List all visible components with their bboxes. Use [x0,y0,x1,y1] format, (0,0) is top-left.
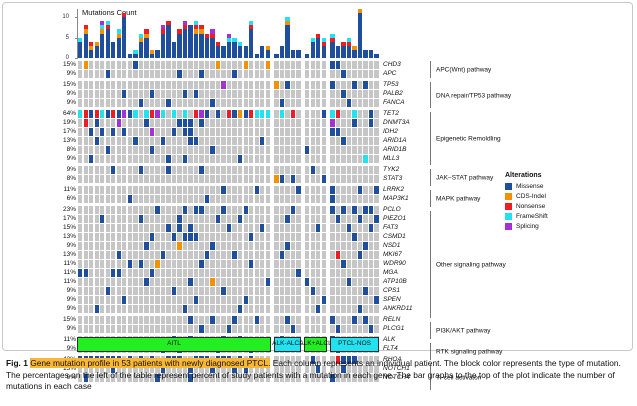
oncoprint-cell-empty [122,287,126,295]
oncoprint-cell-empty [296,242,300,250]
oncoprint-cell-empty [316,206,320,214]
oncoprint-cell-empty [374,166,378,174]
oncoprint-cell-empty [316,155,320,163]
oncoprint-cell-empty [280,215,284,223]
oncoprint-cell-empty [166,110,170,118]
oncoprint-cell-empty [358,325,362,333]
oncoprint-cell-empty [285,278,289,286]
oncoprint-cell-empty [78,195,82,203]
oncoprint-cell-empty [260,146,264,154]
oncoprint-cell-mutated [311,166,315,174]
oncoprint-cell-empty [216,128,220,136]
oncoprint-cell-empty [296,155,300,163]
bar-segment-missense [311,42,315,58]
oncoprint-cell-mutated [128,260,132,268]
oncoprint-cell-empty [78,224,82,232]
oncoprint-cell-empty [78,99,82,107]
oncoprint-cell-empty [122,206,126,214]
oncoprint-cell-empty [122,251,126,259]
oncoprint-cell-mutated [330,206,334,214]
oncoprint-cell-empty [363,110,367,118]
oncoprint-cell-empty [199,195,203,203]
oncoprint-cell-empty [296,233,300,241]
oncoprint-cell-mutated [106,110,110,118]
oncoprint-cell-empty [89,175,93,183]
bar-column [199,25,203,58]
oncoprint-cell-mutated [155,260,159,268]
oncoprint-cell-empty [155,128,159,136]
oncoprint-cell-empty [244,155,248,163]
oncoprint-cell-empty [194,61,198,69]
oncoprint-cell-mutated [188,316,192,324]
oncoprint-cell-empty [280,155,284,163]
oncoprint-cell-empty [133,287,137,295]
oncoprint-cell-empty [100,242,104,250]
oncoprint-cell-empty [111,186,115,194]
oncoprint-cell-empty [95,278,99,286]
oncoprint-cell-empty [100,224,104,232]
y-axis-tick-label: 10 [62,14,69,20]
oncoprint-cell-empty [255,206,259,214]
oncoprint-cell-empty [122,278,126,286]
oncoprint-cell-empty [144,128,148,136]
oncoprint-cell-mutated [122,128,126,136]
oncoprint-cell-empty [363,233,367,241]
oncoprint-cell-empty [322,90,326,98]
oncoprint-cell-empty [311,316,315,324]
legend-swatch [505,203,512,210]
oncoprint-cell-empty [244,90,248,98]
pathway-name-block: ALKFLT4 [383,336,427,353]
oncoprint-cell-mutated [336,61,340,69]
oncoprint-cell-empty [106,224,110,232]
oncoprint-cell-empty [106,81,110,89]
oncoprint-cell-mutated [100,128,104,136]
oncoprint-cell-empty [194,186,198,194]
oncoprint-cell-empty [89,99,93,107]
oncoprint-cell-empty [172,119,176,127]
oncoprint-cell-empty [341,278,345,286]
oncoprint-cell-empty [111,278,115,286]
oncoprint-cell-empty [172,81,176,89]
bar-column [358,9,362,58]
oncoprint-cell-empty [210,251,214,259]
oncoprint-cell-empty [358,287,362,295]
oncoprint-cell-empty [205,90,209,98]
oncoprint-cell-mutated [150,233,154,241]
oncoprint-cell-empty [316,70,320,78]
oncoprint-cell-mutated [291,206,295,214]
oncoprint-cell-empty [330,175,334,183]
oncoprint-cell-empty [341,305,345,313]
oncoprint-cell-empty [266,305,270,313]
oncoprint-cell-empty [172,224,176,232]
oncoprint-cell-empty [177,110,181,118]
oncoprint-cell-empty [316,242,320,250]
oncoprint-gene-row [78,90,380,98]
oncoprint-cell-empty [260,166,264,174]
oncoprint-cell-empty [100,305,104,313]
oncoprint-cell-empty [194,305,198,313]
oncoprint-cell-empty [296,224,300,232]
oncoprint-cell-mutated [95,305,99,313]
gene-label: FLT4 [383,345,427,353]
oncoprint-cell-empty [221,325,225,333]
oncoprint-cell-empty [194,119,198,127]
oncoprint-cell-mutated [210,146,214,154]
oncoprint-cell-empty [227,155,231,163]
oncoprint-cell-empty [111,90,115,98]
oncoprint-cell-empty [358,195,362,203]
oncoprint-cell-empty [139,325,143,333]
oncoprint-cell-empty [322,224,326,232]
oncoprint-cell-empty [133,175,137,183]
oncoprint-cell-empty [363,70,367,78]
oncoprint-cell-empty [166,70,170,78]
oncoprint-cell-empty [336,305,340,313]
oncoprint-cell-mutated [291,110,295,118]
gene-frequency-label: 64% [56,110,76,118]
bar-segment-missense [232,42,236,58]
oncoprint-cell-empty [227,316,231,324]
oncoprint-cell-empty [183,278,187,286]
oncoprint-cell-empty [221,128,225,136]
oncoprint-cell-empty [166,175,170,183]
oncoprint-cell-empty [183,137,187,145]
oncoprint-cell-empty [216,305,220,313]
oncoprint-cell-empty [291,296,295,304]
oncoprint-cell-empty [363,325,367,333]
oncoprint-cell-empty [117,305,121,313]
oncoprint-cell-empty [336,70,340,78]
oncoprint-cell-empty [84,233,88,241]
oncoprint-cell-empty [95,146,99,154]
bar-column [316,34,320,58]
oncoprint-cell-empty [238,269,242,277]
oncoprint-cell-empty [285,99,289,107]
oncoprint-cell-empty [122,119,126,127]
oncoprint-cell-empty [347,146,351,154]
gene-frequency-label: 17% [56,215,76,223]
oncoprint-cell-empty [266,242,270,250]
oncoprint-cell-empty [117,287,121,295]
oncoprint-cell-empty [274,233,278,241]
oncoprint-cell-empty [358,260,362,268]
oncoprint-cell-empty [244,166,248,174]
oncoprint-cell-empty [139,119,143,127]
oncoprint-cell-empty [183,287,187,295]
oncoprint-gene-row [78,119,380,127]
bar-segment-missense [128,54,132,58]
oncoprint-cell-mutated [128,195,132,203]
oncoprint-cell-empty [150,155,154,163]
oncoprint-cell-empty [188,242,192,250]
oncoprint-cell-empty [128,325,132,333]
oncoprint-cell-mutated [249,233,253,241]
oncoprint-cell-empty [291,81,295,89]
oncoprint-cell-empty [255,260,259,268]
oncoprint-cell-empty [369,251,373,259]
oncoprint-cell-empty [296,119,300,127]
oncoprint-cell-empty [336,260,340,268]
oncoprint-cell-empty [144,206,148,214]
oncoprint-cell-empty [144,61,148,69]
oncoprint-cell-empty [311,110,315,118]
oncoprint-gene-row [78,146,380,154]
oncoprint-cell-empty [221,242,225,250]
pathway-bracket [430,61,431,78]
group-label-line: PTCL-NOS [338,341,371,348]
oncoprint-cell-empty [139,269,143,277]
oncoprint-cell-empty [117,233,121,241]
oncoprint-cell-empty [352,269,356,277]
oncoprint-cell-empty [100,233,104,241]
oncoprint-cell-empty [244,195,248,203]
oncoprint-cell-empty [296,251,300,259]
gene-frequency-label: 23% [56,206,76,214]
oncoprint-cell-empty [249,316,253,324]
oncoprint-cell-empty [296,81,300,89]
oncoprint-gene-row [78,278,380,286]
oncoprint-cell-empty [100,146,104,154]
oncoprint-cell-empty [111,215,115,223]
oncoprint-cell-empty [166,137,170,145]
oncoprint-cell-mutated [166,99,170,107]
oncoprint-cell-empty [244,242,248,250]
oncoprint-cell-empty [374,305,378,313]
gene-label: MKI67 [383,251,427,259]
oncoprint-cell-empty [199,287,203,295]
oncoprint-cell-empty [194,81,198,89]
oncoprint-cell-mutated [266,278,270,286]
oncoprint-cell-empty [117,215,121,223]
oncoprint-cell-empty [78,175,82,183]
oncoprint-cell-empty [274,119,278,127]
oncoprint-cell-empty [205,296,209,304]
oncoprint-cell-empty [150,175,154,183]
oncoprint-cell-empty [238,70,242,78]
oncoprint-cell-mutated [188,224,192,232]
diagnosis-group-alk+alcl: ALK+ALCL [304,337,326,352]
oncoprint-cell-empty [111,61,115,69]
oncoprint-cell-empty [84,305,88,313]
legend-swatch [505,183,512,190]
oncoprint-cell-empty [285,296,289,304]
oncoprint-cell-empty [316,110,320,118]
bar-segment-missense [111,42,115,58]
oncoprint-cell-empty [216,206,220,214]
oncoprint-cell-empty [139,296,143,304]
oncoprint-cell-empty [216,269,220,277]
oncoprint-cell-empty [177,166,181,174]
oncoprint-cell-empty [255,99,259,107]
oncoprint-cell-empty [205,99,209,107]
oncoprint-cell-empty [166,186,170,194]
oncoprint-cell-empty [374,90,378,98]
oncoprint-cell-empty [336,296,340,304]
oncoprint-cell-mutated [172,128,176,136]
gene-label: CPS1 [383,287,427,295]
oncoprint-cell-mutated [199,325,203,333]
oncoprint-cell-mutated [106,287,110,295]
oncoprint-cell-empty [172,155,176,163]
oncoprint-cell-mutated [260,137,264,145]
oncoprint-cell-empty [144,81,148,89]
oncoprint-cell-empty [358,296,362,304]
oncoprint-cell-empty [205,70,209,78]
oncoprint-cell-empty [227,90,231,98]
oncoprint-cell-empty [249,155,253,163]
oncoprint-cell-empty [221,296,225,304]
gene-frequency-label: 8% [56,146,76,154]
oncoprint-cell-mutated [369,206,373,214]
oncoprint-cell-empty [194,195,198,203]
oncoprint-cell-empty [311,90,315,98]
oncoprint-cell-empty [78,137,82,145]
legend-label: Nonsense [516,203,545,210]
oncoprint-cell-mutated [238,305,242,313]
oncoprint-cell-empty [221,215,225,223]
oncoprint-cell-empty [188,215,192,223]
oncoprint-cell-empty [227,70,231,78]
pathway-pct-block: 15%9% [56,61,76,78]
oncoprint-cell-mutated [139,215,143,223]
oncoprint-cell-empty [161,90,165,98]
gene-frequency-label: 9% [56,325,76,333]
oncoprint-cell-empty [150,224,154,232]
oncoprint-cell-empty [78,316,82,324]
oncoprint-cell-mutated [139,99,143,107]
oncoprint-cell-empty [330,70,334,78]
oncoprint-cell-empty [194,70,198,78]
oncoprint-cell-empty [260,325,264,333]
oncoprint-cell-mutated [330,186,334,194]
oncoprint-cell-empty [341,146,345,154]
oncoprint-cell-empty [221,119,225,127]
oncoprint-cell-empty [177,251,181,259]
oncoprint-cell-empty [111,146,115,154]
gene-label: TP53 [383,81,427,89]
oncoprint-cell-empty [155,90,159,98]
oncoprint-cell-empty [374,206,378,214]
oncoprint-cell-empty [363,195,367,203]
oncoprint-cell-empty [199,90,203,98]
oncoprint-cell-empty [150,195,154,203]
oncoprint-cell-empty [285,233,289,241]
oncoprint-cell-empty [188,70,192,78]
oncoprint-cell-empty [227,278,231,286]
oncoprint-cell-empty [330,166,334,174]
oncoprint-cell-empty [172,137,176,145]
oncoprint-cell-mutated [358,251,362,259]
gene-label: RELN [383,316,427,324]
oncoprint-cell-mutated [133,61,137,69]
oncoprint-cell-empty [322,186,326,194]
oncoprint-cell-empty [144,175,148,183]
oncoprint-cell-mutated [188,233,192,241]
oncoprint-cell-empty [274,269,278,277]
bar-column [177,29,181,58]
oncoprint-cell-empty [161,166,165,174]
oncoprint-cell-empty [238,99,242,107]
oncoprint-cell-empty [95,287,99,295]
oncoprint-cell-empty [177,186,181,194]
oncoprint-cell-mutated [166,224,170,232]
oncoprint-cell-empty [311,215,315,223]
bar-column [128,54,132,58]
oncoprint-cell-empty [227,269,231,277]
oncoprint-cell-empty [336,278,340,286]
oncoprint-cell-empty [266,155,270,163]
oncoprint-cell-empty [150,166,154,174]
oncoprint-cell-empty [311,146,315,154]
oncoprint-cell-empty [341,128,345,136]
oncoprint-cell-mutated [183,155,187,163]
oncoprint-cell-empty [155,137,159,145]
oncoprint-cell-empty [194,224,198,232]
oncoprint-cell-empty [260,296,264,304]
oncoprint-cell-mutated [221,287,225,295]
bar-column [291,50,295,58]
oncoprint-cell-empty [100,206,104,214]
oncoprint-cell-empty [347,251,351,259]
oncoprint-cell-empty [322,305,326,313]
oncoprint-cell-empty [78,146,82,154]
oncoprint-cell-empty [166,128,170,136]
bar-column [205,34,209,58]
oncoprint-cell-empty [266,215,270,223]
bar-segment-missense [305,54,309,58]
oncoprint-cell-empty [227,137,231,145]
oncoprint-cell-empty [183,195,187,203]
oncoprint-cell-empty [311,195,315,203]
figure-caption: Fig. 1 Gene mutation profile in 53 patie… [6,358,631,393]
oncoprint-cell-empty [232,278,236,286]
oncoprint-cell-mutated [117,269,121,277]
oncoprint-cell-mutated [89,110,93,118]
oncoprint-cell-mutated [369,224,373,232]
oncoprint-cell-empty [100,175,104,183]
oncoprint-cell-empty [150,278,154,286]
oncoprint-cell-empty [210,260,214,268]
oncoprint-cell-empty [210,206,214,214]
oncoprint-cell-empty [369,146,373,154]
oncoprint-cell-empty [78,70,82,78]
oncoprint-cell-empty [322,251,326,259]
oncoprint-cell-empty [336,206,340,214]
oncoprint-cell-empty [100,269,104,277]
oncoprint-cell-empty [260,269,264,277]
bar-column [227,34,231,58]
oncoprint-cell-empty [150,61,154,69]
pathway-name-block: TP53PALB2FANCA [383,81,427,107]
oncoprint-cell-empty [358,175,362,183]
oncoprint-cell-mutated [139,166,143,174]
oncoprint-cell-empty [311,325,315,333]
oncoprint-cell-empty [311,269,315,277]
oncoprint-cell-empty [117,175,121,183]
oncoprint-cell-empty [199,215,203,223]
bar-column [232,38,236,58]
legend-item: Splicing [505,222,595,231]
oncoprint-cell-empty [210,269,214,277]
oncoprint-cell-empty [122,166,126,174]
bar-segment-missense [296,50,300,58]
bar-column [155,50,159,58]
oncoprint-cell-empty [111,316,115,324]
oncoprint-cell-empty [199,278,203,286]
oncoprint-cell-empty [227,242,231,250]
